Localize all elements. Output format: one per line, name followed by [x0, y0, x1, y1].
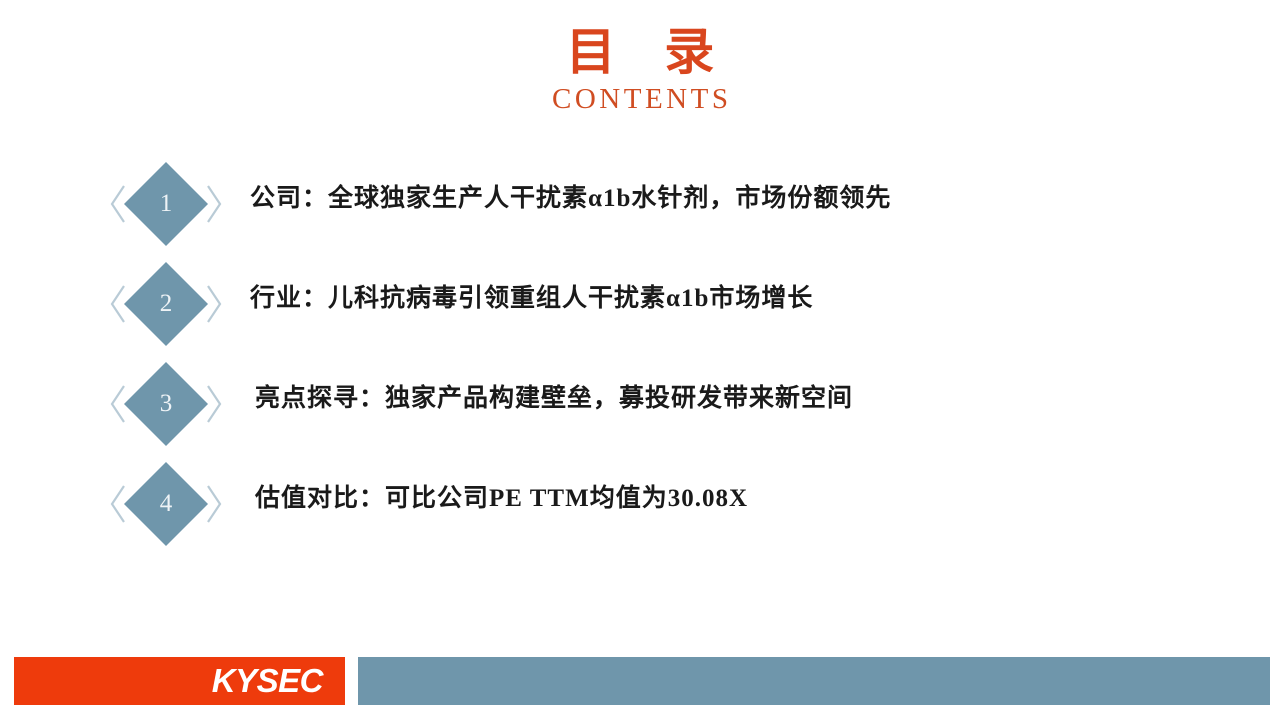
contents-item[interactable]: 2 行业：儿科抗病毒引领重组人干扰素α1b市场增长 — [0, 260, 1280, 360]
diamond-number: 3 — [110, 360, 222, 448]
presentation-slide: 目 录 CONTENTS 1 公司：全球独家生产人干扰素α1b水针剂，市场份额领… — [0, 0, 1280, 719]
contents-item[interactable]: 3 亮点探寻：独家产品构建壁垒，募投研发带来新空间 — [0, 360, 1280, 460]
diamond-marker-3: 3 — [110, 360, 222, 448]
kysec-logo: KYSEC — [14, 657, 345, 705]
contents-item[interactable]: 1 公司：全球独家生产人干扰素α1b水针剂，市场份额领先 — [0, 160, 1280, 260]
contents-item[interactable]: 4 估值对比：可比公司PE TTM均值为30.08X — [0, 460, 1280, 560]
diamond-number: 1 — [110, 160, 222, 248]
contents-list: 1 公司：全球独家生产人干扰素α1b水针剂，市场份额领先 2 行业：儿科抗病毒引… — [0, 160, 1280, 560]
slide-footer: KYSEC — [0, 645, 1280, 719]
slide-title-chinese: 目 录 — [0, 24, 1280, 80]
diamond-number: 2 — [110, 260, 222, 348]
contents-item-label: 估值对比：可比公司PE TTM均值为30.08X — [255, 482, 748, 516]
diamond-number: 4 — [110, 460, 222, 548]
kysec-logo-text: KYSEC — [212, 662, 323, 700]
contents-item-label: 公司：全球独家生产人干扰素α1b水针剂，市场份额领先 — [250, 182, 891, 216]
diamond-marker-1: 1 — [110, 160, 222, 248]
diamond-marker-4: 4 — [110, 460, 222, 548]
slide-title-english: CONTENTS — [0, 82, 1280, 116]
diamond-marker-2: 2 — [110, 260, 222, 348]
slide-title-block: 目 录 CONTENTS — [0, 24, 1280, 116]
contents-item-label: 行业：儿科抗病毒引领重组人干扰素α1b市场增长 — [250, 282, 813, 316]
contents-item-label: 亮点探寻：独家产品构建壁垒，募投研发带来新空间 — [255, 382, 853, 416]
footer-accent-bar — [358, 657, 1270, 705]
